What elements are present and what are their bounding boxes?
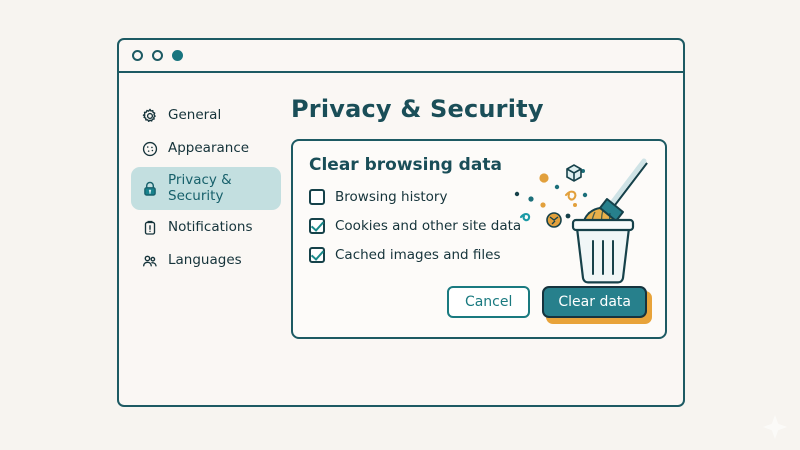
option-label: Browsing history <box>335 189 447 205</box>
cancel-button[interactable]: Cancel <box>447 286 530 318</box>
browser-window: General Appearance <box>117 38 685 407</box>
checkbox-unchecked-icon[interactable] <box>309 189 325 205</box>
option-label: Cookies and other site data <box>335 218 521 234</box>
window-body: General Appearance <box>119 73 683 405</box>
sidebar-item-appearance[interactable]: Appearance <box>131 134 281 164</box>
sidebar-item-label: Appearance <box>168 141 249 157</box>
sidebar-item-label: General <box>168 108 221 124</box>
clear-data-button-wrap: Clear data <box>542 286 647 318</box>
clear-browsing-data-card: Clear browsing data <box>291 139 667 339</box>
option-browsing-history[interactable]: Browsing history <box>309 189 649 205</box>
sidebar-item-label: Languages <box>168 253 242 269</box>
page-title: Privacy & Security <box>291 95 667 123</box>
clear-data-button[interactable]: Clear data <box>542 286 647 318</box>
bell-clipboard-icon <box>141 219 159 237</box>
settings-sidebar: General Appearance <box>119 73 287 405</box>
palette-face-icon <box>141 140 159 158</box>
window-control-close[interactable] <box>132 50 143 61</box>
card-title: Clear browsing data <box>309 155 649 175</box>
window-control-minimize[interactable] <box>152 50 163 61</box>
window-control-maximize[interactable] <box>172 50 183 61</box>
people-icon <box>141 252 159 270</box>
sidebar-item-privacy-security[interactable]: Privacy & Security <box>131 167 281 210</box>
gear-icon <box>141 107 159 125</box>
sidebar-item-label: Privacy & Security <box>168 173 232 204</box>
sparkle-icon <box>762 414 788 440</box>
card-actions: Cancel Clear data <box>447 286 647 318</box>
sidebar-item-general[interactable]: General <box>131 101 281 131</box>
option-cookies-and-site-data[interactable]: Cookies and other site data <box>309 218 649 234</box>
sidebar-item-label: Notifications <box>168 220 253 236</box>
sidebar-item-notifications[interactable]: Notifications <box>131 213 281 243</box>
option-cached-images-and-files[interactable]: Cached images and files <box>309 247 649 263</box>
lock-icon <box>141 180 159 198</box>
sidebar-item-languages[interactable]: Languages <box>131 246 281 276</box>
option-label: Cached images and files <box>335 247 501 263</box>
checkbox-checked-icon[interactable] <box>309 247 325 263</box>
checkbox-checked-icon[interactable] <box>309 218 325 234</box>
settings-main-panel: Privacy & Security Clear browsing data <box>287 73 683 405</box>
window-titlebar <box>119 40 683 73</box>
